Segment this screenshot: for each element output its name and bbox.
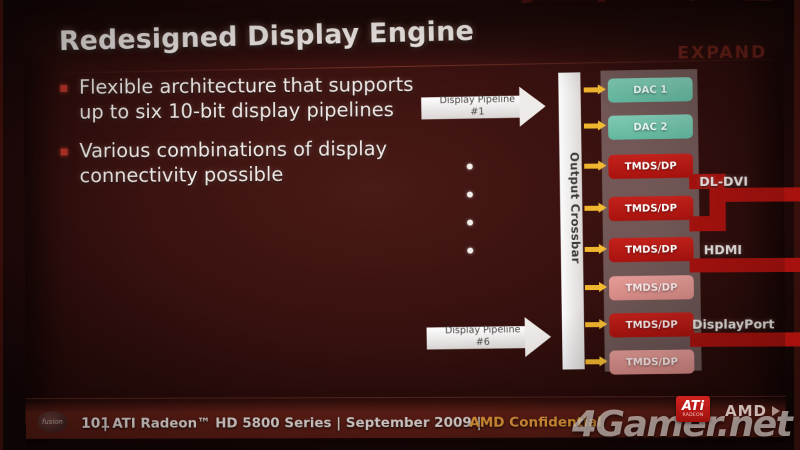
bullet-marker-icon xyxy=(61,148,68,155)
screenshot-stage: Redesigned Display Engine EXPAND Flexibl… xyxy=(0,0,800,450)
displayport-output-line xyxy=(690,332,800,347)
connector-line xyxy=(585,285,600,290)
connector-arrow-icon xyxy=(599,244,607,254)
display-pipeline-1-label: Display Pipeline #1 xyxy=(429,94,526,119)
output-block-dac-1[interactable]: DAC 1 xyxy=(608,77,693,103)
connector-arrow-icon xyxy=(599,356,607,366)
fusion-logo: fusion xyxy=(38,411,68,433)
display-pipeline-6-arrow: Display Pipeline #6 xyxy=(426,317,555,359)
pipeline-label-line1: Display Pipeline xyxy=(439,94,515,106)
pipeline-label-line2: #6 xyxy=(476,336,490,347)
output-block-dac-2[interactable]: DAC 2 xyxy=(608,114,693,139)
pipeline-label-line2: #1 xyxy=(470,106,484,117)
output-crossbar: Output Crossbar xyxy=(558,72,585,369)
bullet-list: Flexible architecture that supports up t… xyxy=(57,72,416,202)
output-block-tmds-4[interactable]: TMDS/DP xyxy=(608,196,693,221)
connector-arrow-icon xyxy=(598,120,606,130)
expand-watermark: EXPAND xyxy=(677,43,767,64)
output-block-tmds-6[interactable]: TMDS/DP xyxy=(609,275,694,300)
connector-arrow-icon xyxy=(599,319,607,329)
ellipsis-dot-icon xyxy=(467,192,473,198)
ellipsis-dot-icon xyxy=(467,163,473,169)
list-item: Flexible architecture that supports up t… xyxy=(57,72,415,125)
amd-logo-text: AMD xyxy=(725,402,767,420)
display-pipeline-6-label: Display Pipeline #6 xyxy=(435,324,532,348)
amd-arrow-icon xyxy=(772,406,780,416)
output-crossbar-label: Output Crossbar xyxy=(567,92,585,323)
display-engine-diagram: Display Pipeline #1 Display Pipeline #6 xyxy=(401,63,785,386)
dvi-output-line xyxy=(722,187,800,202)
output-block-tmds-8[interactable]: TMDS/DP xyxy=(609,349,694,374)
connector-line xyxy=(584,87,599,92)
hdmi-output-line xyxy=(690,258,800,273)
ati-logo: ATi RADEON xyxy=(676,396,710,422)
ellipsis-dot-icon xyxy=(467,220,473,226)
connector-line xyxy=(584,123,599,128)
ellipsis-dot-icon xyxy=(467,248,473,254)
bullet-marker-icon xyxy=(60,85,67,92)
bullet-text: Flexible architecture that supports up t… xyxy=(79,72,415,125)
ati-logo-subtext: RADEON xyxy=(682,413,703,418)
pipeline-label-line1: Display Pipeline xyxy=(445,324,521,336)
connector-line xyxy=(585,247,600,252)
list-item: Various combinations of display connecti… xyxy=(58,136,416,188)
output-label-dl-dvi: DL-DVI xyxy=(699,174,748,189)
output-block-tmds-7[interactable]: TMDS/DP xyxy=(609,312,694,337)
connector-arrow-icon xyxy=(599,282,607,292)
presentation-slide: Redesigned Display Engine EXPAND Flexibl… xyxy=(23,0,786,445)
bullet-text: Various combinations of display connecti… xyxy=(79,136,415,188)
connector-line xyxy=(585,359,600,364)
output-block-tmds-3[interactable]: TMDS/DP xyxy=(608,154,693,179)
display-pipeline-1-arrow: Display Pipeline #1 xyxy=(421,86,550,128)
connector-line xyxy=(584,206,599,211)
connector-line xyxy=(585,322,600,327)
output-label-hdmi: HDMI xyxy=(704,242,742,257)
connector-line xyxy=(584,164,599,169)
pipeline-ellipsis xyxy=(467,163,474,275)
connector-arrow-icon xyxy=(599,203,607,213)
connector-arrow-icon xyxy=(598,84,606,94)
footer-product-line: | ATI Radeon™ HD 5800 Series | September… xyxy=(103,415,482,432)
ati-logo-text: ATi xyxy=(682,401,704,413)
output-label-displayport: DisplayPort xyxy=(692,316,774,331)
connector-arrow-icon xyxy=(598,161,606,171)
output-block-tmds-5[interactable]: TMDS/DP xyxy=(609,237,694,262)
